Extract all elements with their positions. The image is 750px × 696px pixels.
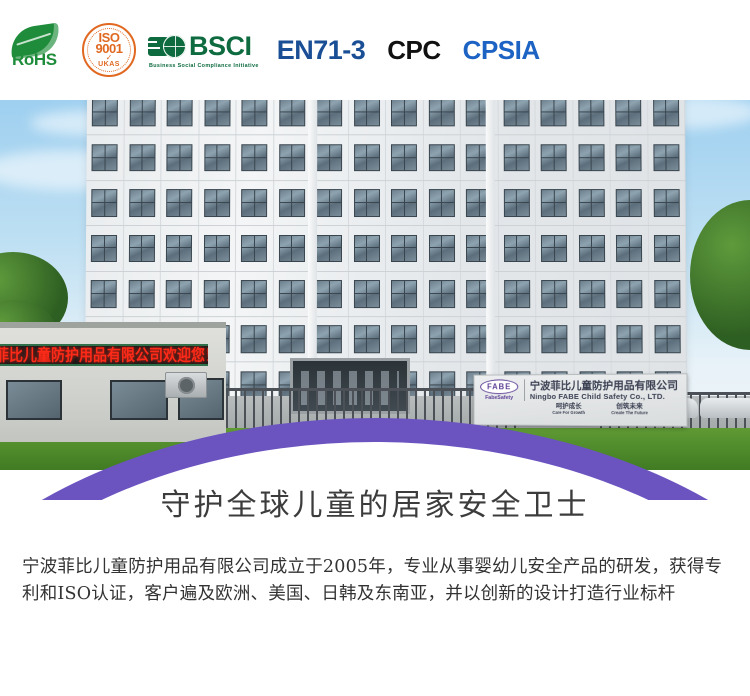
building-floor: [86, 136, 685, 181]
fabe-logo-word: FABE: [480, 379, 518, 394]
sign-company-name-cn: 宁波菲比儿童防护用品有限公司: [530, 379, 678, 392]
iso-ukas-label: UKAS: [98, 61, 120, 69]
globe-icon: [163, 35, 186, 58]
fabe-logo: FABE FabeSafety: [479, 379, 519, 401]
cert-bsci: BSCI Business Social Compliance Initiati…: [148, 31, 259, 69]
building-floor: [86, 226, 686, 271]
sign-company-name-en: Ningbo FABE Child Safety Co., LTD.: [530, 391, 678, 400]
led-banner-text: 菲比儿童防护用品有限公司欢迎您！: [0, 344, 208, 366]
company-description-paragraph: 宁波菲比儿童防护用品有限公司成立于2005年，专业从事婴幼儿安全产品的研发，获得…: [22, 554, 728, 608]
bsci-globe-hand-icon: [148, 33, 186, 61]
cert-rohs: RoHS: [8, 24, 70, 76]
cert-iso: ISO 9001 ✓ UKAS: [82, 23, 136, 77]
building-pier: [486, 79, 496, 409]
parked-car: [700, 398, 750, 418]
sign-slogan: 呵护成长 Care For Growth: [552, 403, 585, 415]
rohs-logo: RoHS: [8, 24, 70, 76]
bsci-subtitle: Business Social Compliance Initiative: [149, 63, 259, 69]
cert-en71-label: EN71-3: [277, 35, 366, 66]
guard-window: [110, 380, 168, 420]
slogan-cn: 创筑未来: [616, 403, 643, 410]
cert-cpsia-label: CPSIA: [463, 35, 540, 66]
certification-bar: RoHS ISO 9001 ✓ UKAS BSCI Business: [0, 0, 750, 100]
iso-label: ISO: [99, 32, 120, 43]
fabe-logo-sub: FabeSafety: [485, 395, 513, 401]
rohs-label: RoHS: [12, 50, 57, 70]
led-welcome-banner: 菲比儿童防护用品有限公司欢迎您！: [0, 344, 208, 366]
bsci-label: BSCI: [189, 31, 252, 62]
guard-window: [6, 380, 62, 420]
slogan-en: Create The Future: [611, 410, 648, 415]
building-floor: [85, 272, 686, 318]
company-sign-board: FABE FabeSafety 宁波菲比儿童防护用品有限公司 Ningbo FA…: [474, 373, 688, 427]
building-floor: [86, 181, 686, 226]
sign-slogan: 创筑未来 Create The Future: [611, 403, 648, 415]
iso-seal-icon: ISO 9001 ✓ UKAS: [82, 23, 136, 77]
page-headline: 守护全球儿童的居家安全卫士: [0, 486, 750, 526]
promo-banner-page: 菲比儿童防护用品有限公司欢迎您！ FABE FabeSafety 宁波菲比儿童防…: [0, 0, 750, 696]
iso-number: 9001: [96, 43, 123, 55]
cert-cpc-label: CPC: [387, 35, 440, 66]
check-icon: ✓: [106, 55, 113, 61]
slogan-en: Care For Growth: [552, 410, 585, 415]
air-conditioner-unit: [165, 372, 207, 398]
sign-divider: [524, 379, 525, 401]
banner-text-block: 守护全球儿童的居家安全卫士 宁波菲比儿童防护用品有限公司成立于2005年，专业从…: [0, 486, 750, 608]
bsci-logo: BSCI Business Social Compliance Initiati…: [148, 31, 259, 69]
